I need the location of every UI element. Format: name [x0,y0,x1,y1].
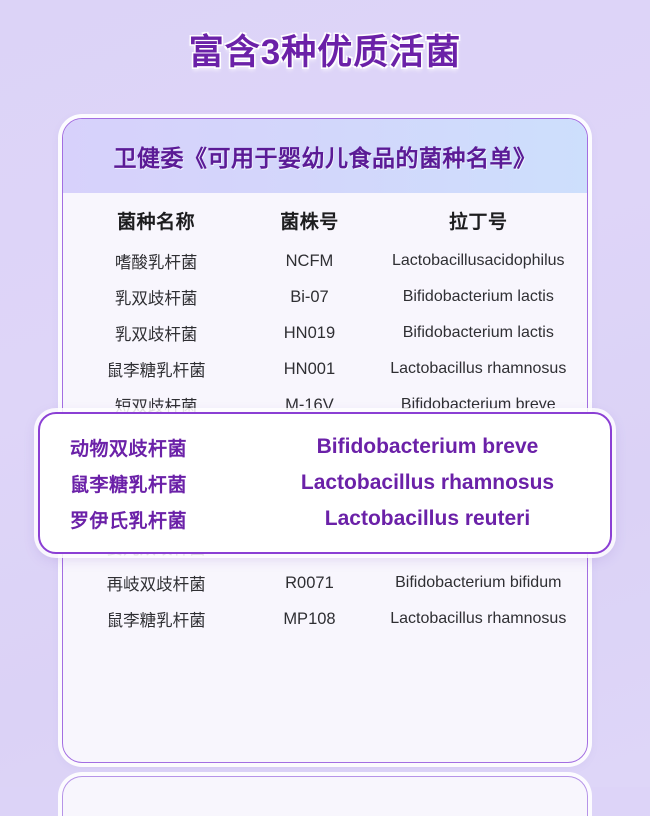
cell-strain: R0071 [249,565,369,601]
cell-latin: Bifidobacterium lactis [370,279,587,315]
cell-strain: HN019 [249,315,369,351]
cell-name: 鼠李糖乳杆菌 [63,351,249,387]
table-row: 嗜酸乳杆菌 NCFM Lactobacillusacidophilus [63,243,587,279]
table-header-row: 菌种名称 菌株号 拉丁号 [63,199,587,243]
card-header: 卫健委《可用于婴幼儿食品的菌种名单》 [63,119,587,193]
highlight-latin: Bifidobacterium breve [275,435,580,459]
column-header-strain: 菌株号 [249,199,369,243]
highlight-latin: Lactobacillus rhamnosus [275,471,580,495]
highlighted-strains-card: 动物双歧杆菌 Bifidobacterium breve 鼠李糖乳杆菌 Lact… [38,412,612,554]
cell-latin: Lactobacillusacidophilus [370,243,587,279]
card-header-title: 卫健委《可用于婴幼儿食品的菌种名单》 [114,139,537,173]
table-row: 鼠李糖乳杆菌 MP108 Lactobacillus rhamnosus [63,601,587,637]
cell-name: 再岐双歧杆菌 [63,565,249,601]
cell-strain: MP108 [249,601,369,637]
highlight-latin: Lactobacillus reuteri [275,507,580,531]
cell-latin: Bifidobacterium lactis [370,315,587,351]
next-section-card [62,776,588,816]
cell-name: 鼠李糖乳杆菌 [63,601,249,637]
cell-strain: NCFM [249,243,369,279]
cell-latin: Lactobacillus rhamnosus [370,601,587,637]
cell-latin: Bifidobacterium bifidum [370,565,587,601]
page-title: 富含3种优质活菌 [0,24,650,75]
highlight-name: 动物双歧杆菌 [70,434,275,461]
cell-name: 嗜酸乳杆菌 [63,243,249,279]
table-body-top: 嗜酸乳杆菌 NCFM Lactobacillusacidophilus 乳双歧杆… [63,243,587,423]
cell-strain: Bi-07 [249,279,369,315]
cell-strain: HN001 [249,351,369,387]
column-header-latin: 拉丁号 [370,199,587,243]
column-header-name: 菌种名称 [63,199,249,243]
highlight-row: 罗伊氏乳杆菌 Lactobacillus reuteri [70,501,580,537]
table-row: 乳双歧杆菌 Bi-07 Bifidobacterium lactis [63,279,587,315]
cell-name: 乳双歧杆菌 [63,315,249,351]
highlight-name: 罗伊氏乳杆菌 [70,506,275,533]
table-row: 乳双歧杆菌 HN019 Bifidobacterium lactis [63,315,587,351]
cell-latin: Lactobacillus rhamnosus [370,351,587,387]
table-row: 鼠李糖乳杆菌 HN001 Lactobacillus rhamnosus [63,351,587,387]
highlight-row: 动物双歧杆菌 Bifidobacterium breve [70,429,580,465]
highlight-name: 鼠李糖乳杆菌 [70,470,275,497]
cell-name: 乳双歧杆菌 [63,279,249,315]
table-row: 再岐双歧杆菌 R0071 Bifidobacterium bifidum [63,565,587,601]
highlight-row: 鼠李糖乳杆菌 Lactobacillus rhamnosus [70,465,580,501]
